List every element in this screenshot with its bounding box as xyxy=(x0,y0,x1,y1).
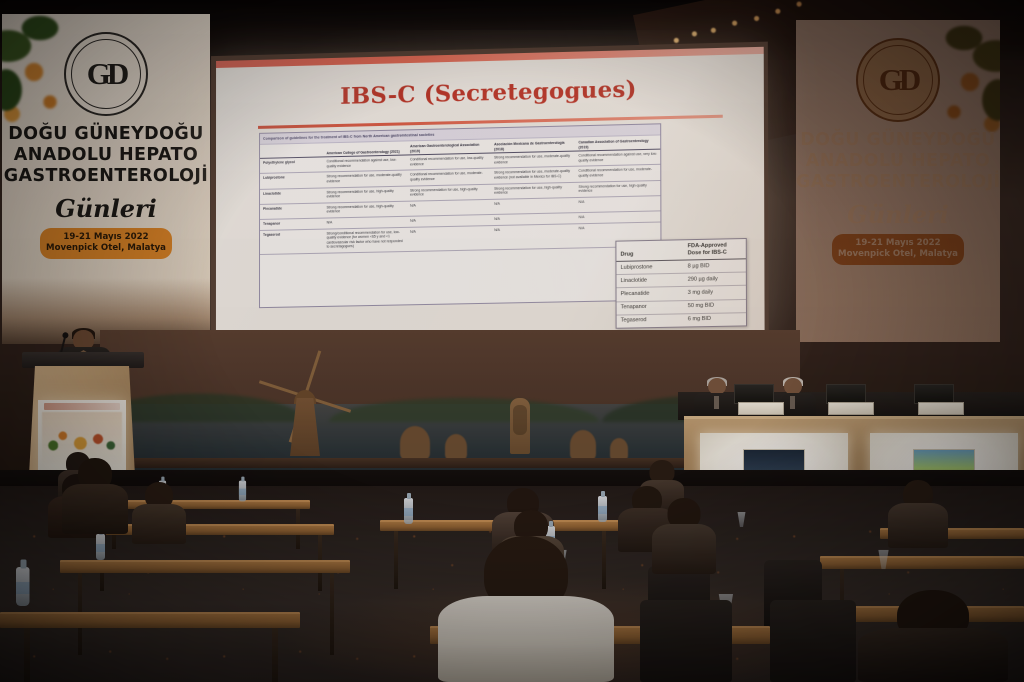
water-bottle xyxy=(16,567,30,606)
lectern-display-header xyxy=(44,403,120,410)
audience-table xyxy=(820,556,1024,569)
comparison-col-0 xyxy=(260,143,323,158)
audience-member xyxy=(62,458,128,534)
rock-decor xyxy=(400,426,430,460)
bottle-label xyxy=(16,582,30,594)
row-3-cell-3: N/A xyxy=(576,195,661,212)
audience-torso xyxy=(132,504,186,544)
row-5-cell-2: N/A xyxy=(491,223,575,249)
slide-title: IBS-C (Secretegogues) xyxy=(216,73,764,113)
dose-row-1-dose: 290 µg daily xyxy=(684,272,746,287)
banner-date-badge: 19-21 Mayıs 2022 Movenpick Otel, Malatya xyxy=(40,228,172,259)
conference-hall-photo: GD DOĞU GÜNEYDOĞU ANADOLU HEPATO GASTROE… xyxy=(0,0,1024,682)
bottle-label xyxy=(404,508,413,516)
dose-row-0-dose: 8 µg BID xyxy=(684,259,746,274)
audience-member xyxy=(132,482,186,544)
banner-title-right-line-3: GASTROENTEROLOJİ xyxy=(796,172,1000,193)
row-5-cell-1: N/A xyxy=(407,225,491,251)
dose-col-drug: Drug xyxy=(616,240,683,261)
row-drug-2: Linaclotide xyxy=(260,188,323,205)
table-row: Tegaserod 6 mg BID xyxy=(617,312,746,327)
banner-title-line-1: DOĞU GÜNEYDOĞU xyxy=(2,124,210,145)
dose-row-2-dose: 3 mg daily xyxy=(684,286,746,301)
water-bottle xyxy=(598,496,607,522)
moderator-1-tie xyxy=(714,396,719,409)
water-bottle xyxy=(239,481,246,502)
banner-date-line: 19-21 Mayıs 2022 xyxy=(40,232,172,243)
congress-banner-left: GD DOĞU GÜNEYDOĞU ANADOLU HEPATO GASTROE… xyxy=(2,14,210,344)
audience-torso xyxy=(858,628,1008,682)
dose-row-1-drug: Linaclotide xyxy=(616,273,683,288)
banner-date-badge-right: 19-21 Mayıs 2022 Movenpick Otel, Malatya xyxy=(832,234,964,265)
lectern-top xyxy=(22,352,144,368)
dose-row-2-drug: Plecanatide xyxy=(617,287,684,302)
audience-table xyxy=(0,612,300,628)
banner-title: DOĞU GÜNEYDOĞU ANADOLU HEPATO GASTROENTE… xyxy=(2,124,210,187)
row-drug-0: Polyethylene glycol xyxy=(260,157,323,174)
comparison-table: American College of Gastroenterology (20… xyxy=(260,135,660,254)
row-3-cell-0: Strong recommendation for use, high-qual… xyxy=(323,201,407,218)
congress-logo-seal: GD xyxy=(64,32,148,116)
rock-decor xyxy=(570,430,596,460)
row-drug-1: Lubiprostone xyxy=(260,172,323,189)
congress-logo-seal-right: GD xyxy=(856,38,940,122)
chair-back xyxy=(770,600,856,682)
dose-row-4-dose: 6 mg BID xyxy=(684,312,746,326)
rock-decor xyxy=(610,438,628,460)
dose-table: Drug FDA-Approved Dose for IBS-C Lubipro… xyxy=(616,239,746,328)
name-placard xyxy=(918,402,964,415)
dose-header-row: Drug FDA-Approved Dose for IBS-C xyxy=(616,239,745,261)
dose-row-3-drug: Tenapanor xyxy=(617,300,684,315)
banner-title-right-line-2: ANADOLU HEPATO xyxy=(796,151,1000,172)
water-bottle xyxy=(96,534,105,560)
dose-row-3-dose: 50 mg BID xyxy=(684,299,746,314)
row-3-cell-1: N/A xyxy=(407,199,491,216)
banner-title-right: DOĞU GÜNEYDOĞU ANADOLU HEPATO GASTROENTE… xyxy=(796,130,1000,193)
name-placard xyxy=(828,402,874,415)
row-drug-3: Plecanatide xyxy=(260,203,323,220)
dose-col-dose: FDA-Approved Dose for IBS-C xyxy=(684,239,746,260)
audience-member xyxy=(652,498,716,574)
banner-title-line-2: ANADOLU HEPATO xyxy=(2,145,210,166)
banner-title-right-line-1: DOĞU GÜNEYDOĞU xyxy=(796,130,1000,151)
banner-title-line-3: GASTROENTEROLOJİ xyxy=(2,166,210,187)
table-leg xyxy=(272,628,278,682)
bottle-label xyxy=(239,489,246,495)
row-drug-5: Tegaserod xyxy=(260,229,323,255)
table-leg xyxy=(394,531,398,589)
windmill-decor xyxy=(278,380,332,456)
chair-back xyxy=(640,600,732,682)
banner-venue-line: Movenpick Otel, Malatya xyxy=(40,243,172,254)
guideline-comparison-table: Comparison of guidelines for the treatme… xyxy=(259,123,662,308)
fda-dose-table: Drug FDA-Approved Dose for IBS-C Lubipro… xyxy=(615,238,747,329)
audience-member xyxy=(888,480,948,548)
audience-torso xyxy=(888,503,948,548)
bottle-label xyxy=(96,544,105,552)
audience-torso xyxy=(62,484,128,534)
audience-torso xyxy=(652,524,716,574)
logo-monogram: GD xyxy=(87,56,126,92)
congress-banner-right: GD DOĞU GÜNEYDOĞU ANADOLU HEPATO GASTROE… xyxy=(796,20,1000,342)
panel-laptop xyxy=(826,384,866,404)
table-leg xyxy=(330,573,334,655)
dose-row-4-drug: Tegaserod xyxy=(617,314,684,328)
table-leg xyxy=(24,628,30,682)
water-bottle xyxy=(404,498,413,524)
bottle-label xyxy=(598,506,607,514)
panel-laptop xyxy=(734,384,774,404)
statue-decor xyxy=(510,398,530,454)
row-5-cell-0: Strong/conditional recommendation for us… xyxy=(323,227,407,253)
logo-monogram-right: GD xyxy=(879,62,918,98)
dose-row-0-drug: Lubiprostone xyxy=(616,260,683,275)
projection-screen: IBS-C (Secretegogues) Comparison of guid… xyxy=(211,42,769,357)
moderator-2-tie xyxy=(790,396,795,409)
presentation-slide: IBS-C (Secretegogues) Comparison of guid… xyxy=(216,47,765,350)
audience-table xyxy=(60,560,350,573)
banner-script-word-right: Günleri xyxy=(796,200,1000,229)
banner-script-word: Günleri xyxy=(2,194,210,223)
row-3-cell-2: N/A xyxy=(491,197,575,214)
name-placard xyxy=(738,402,784,415)
audience-member-foreground xyxy=(858,590,1008,682)
windmill-body xyxy=(290,398,320,456)
banner-venue-line-right: Movenpick Otel, Malatya xyxy=(832,249,964,260)
audience-white-shirt xyxy=(438,596,614,682)
banner-date-line-right: 19-21 Mayıs 2022 xyxy=(832,238,964,249)
rock-decor xyxy=(445,434,467,460)
panel-laptop xyxy=(914,384,954,404)
audience-member-foreground xyxy=(438,536,614,682)
